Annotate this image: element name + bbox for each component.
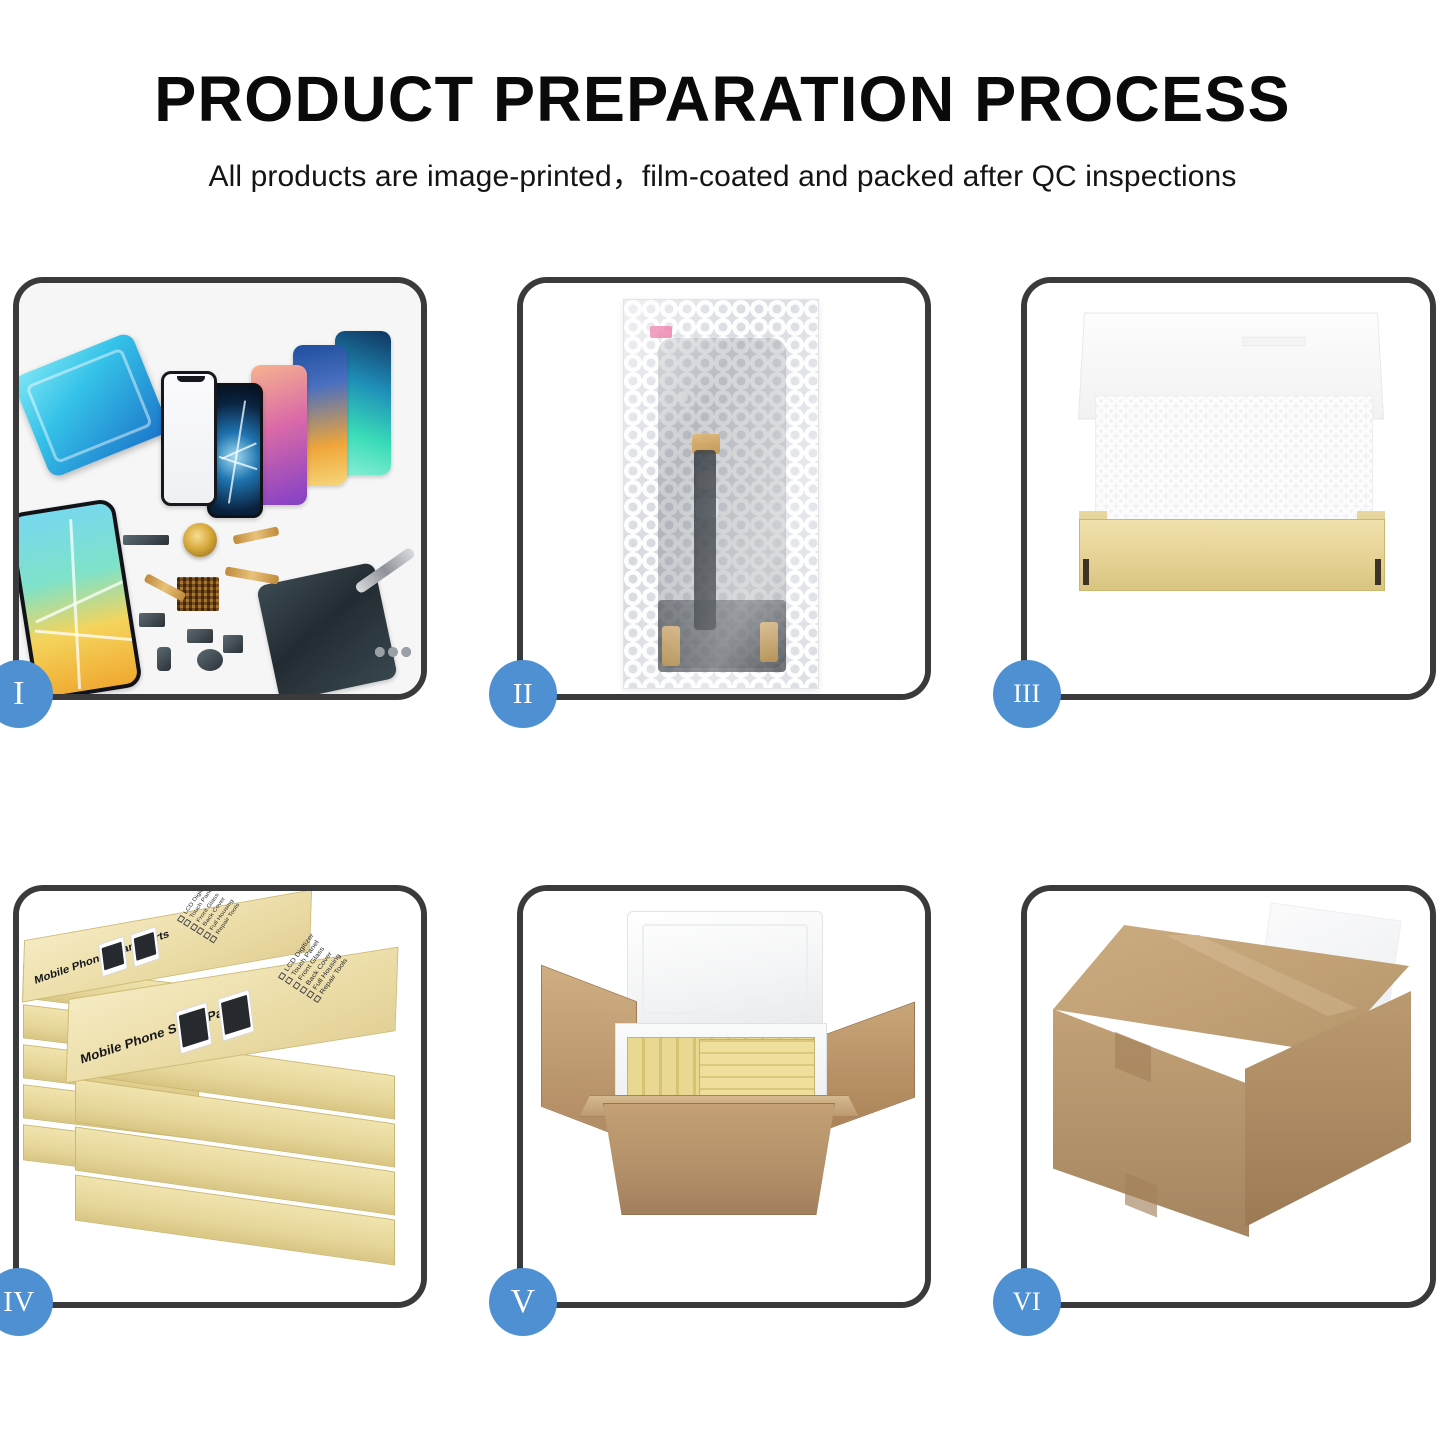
- foam-cooler-lid: [627, 911, 823, 1029]
- vibration-motor-graphic: [183, 523, 217, 557]
- flex-cable-graphic: [233, 526, 280, 544]
- retail-box-screen-thumb: [98, 936, 128, 977]
- carton-body: [603, 1103, 835, 1215]
- retail-box-checklist-back: LCD Digitizer Touch Panel Front Glass Ba…: [177, 891, 245, 945]
- retail-box-brand-front: Mobile Phone Spare Parts: [79, 999, 240, 1066]
- retail-box-screen-thumb: [217, 989, 254, 1042]
- page-title: PRODUCT PREPARATION PROCESS: [11, 66, 1434, 133]
- process-step-2: II: [517, 277, 931, 700]
- flex-cable-graphic: [225, 566, 280, 584]
- retail-boxes-inside-right: [699, 1039, 815, 1101]
- step-6-image: [1027, 891, 1430, 1302]
- lid-tab: [1242, 337, 1306, 347]
- page-subtitle: All products are image-printed，film-coat…: [0, 151, 1445, 195]
- retail-box-screen-thumb: [130, 926, 160, 967]
- gold-tab-graphic: [662, 626, 680, 666]
- step-badge-2: II: [489, 660, 557, 728]
- process-step-1: I: [13, 277, 427, 700]
- step-badge-5: V: [489, 1268, 557, 1336]
- retail-box-screen-thumb: [175, 1002, 212, 1055]
- process-step-6: VI: [1021, 885, 1436, 1308]
- process-step-4: Mobile Phone Spare Parts LCD Digitizer T…: [13, 885, 427, 1308]
- crack-line: [219, 456, 258, 470]
- broken-screen-phone-graphic: [19, 498, 143, 694]
- process-step-grid: I: [13, 277, 1432, 1310]
- bubble-wrapped-part-illustration: [523, 283, 925, 694]
- header: PRODUCT PREPARATION PROCESS All products…: [0, 66, 1445, 195]
- small-part-graphic: [187, 629, 213, 643]
- crack-line: [35, 630, 135, 642]
- crack-line: [35, 580, 123, 623]
- small-part-graphic: [123, 535, 169, 545]
- process-step-5: V: [517, 885, 931, 1308]
- white-foam-sheet: [1095, 395, 1373, 527]
- step-4-image: Mobile Phone Spare Parts LCD Digitizer T…: [19, 891, 421, 1302]
- sim-tray-graphic: [157, 647, 171, 671]
- step-2-image: [523, 283, 925, 694]
- adhesive-sticker-graphic: [19, 331, 171, 479]
- sealed-shipping-carton-illustration: [1027, 891, 1430, 1302]
- step-1-image: [19, 283, 421, 694]
- box-corner-shadow: [1083, 559, 1089, 585]
- product-preparation-infographic: PRODUCT PREPARATION PROCESS All products…: [0, 0, 1445, 1445]
- carton-with-foam-cooler-illustration: [523, 891, 925, 1302]
- pink-qc-label: [650, 326, 672, 338]
- screws-graphic: [371, 639, 415, 665]
- step-3-image: [1027, 283, 1430, 694]
- step-5-image: [523, 891, 925, 1302]
- process-step-3: III: [1021, 277, 1436, 700]
- small-part-graphic: [139, 613, 165, 627]
- stacked-retail-boxes-illustration: Mobile Phone Spare Parts LCD Digitizer T…: [19, 891, 421, 1302]
- open-inner-box-illustration: [1027, 283, 1430, 694]
- step-badge-3: III: [993, 660, 1061, 728]
- small-part-graphic: [223, 635, 243, 653]
- gold-tab-graphic: [760, 622, 778, 662]
- bubble-wrap-bag: [623, 299, 819, 689]
- phone-parts-collage-illustration: [19, 283, 421, 694]
- step-badge-6: VI: [993, 1268, 1061, 1336]
- box-front-panel: [1079, 519, 1385, 591]
- front-glass-graphic: [161, 371, 217, 506]
- speaker-graphic: [197, 649, 223, 671]
- box-corner-shadow: [1375, 559, 1381, 585]
